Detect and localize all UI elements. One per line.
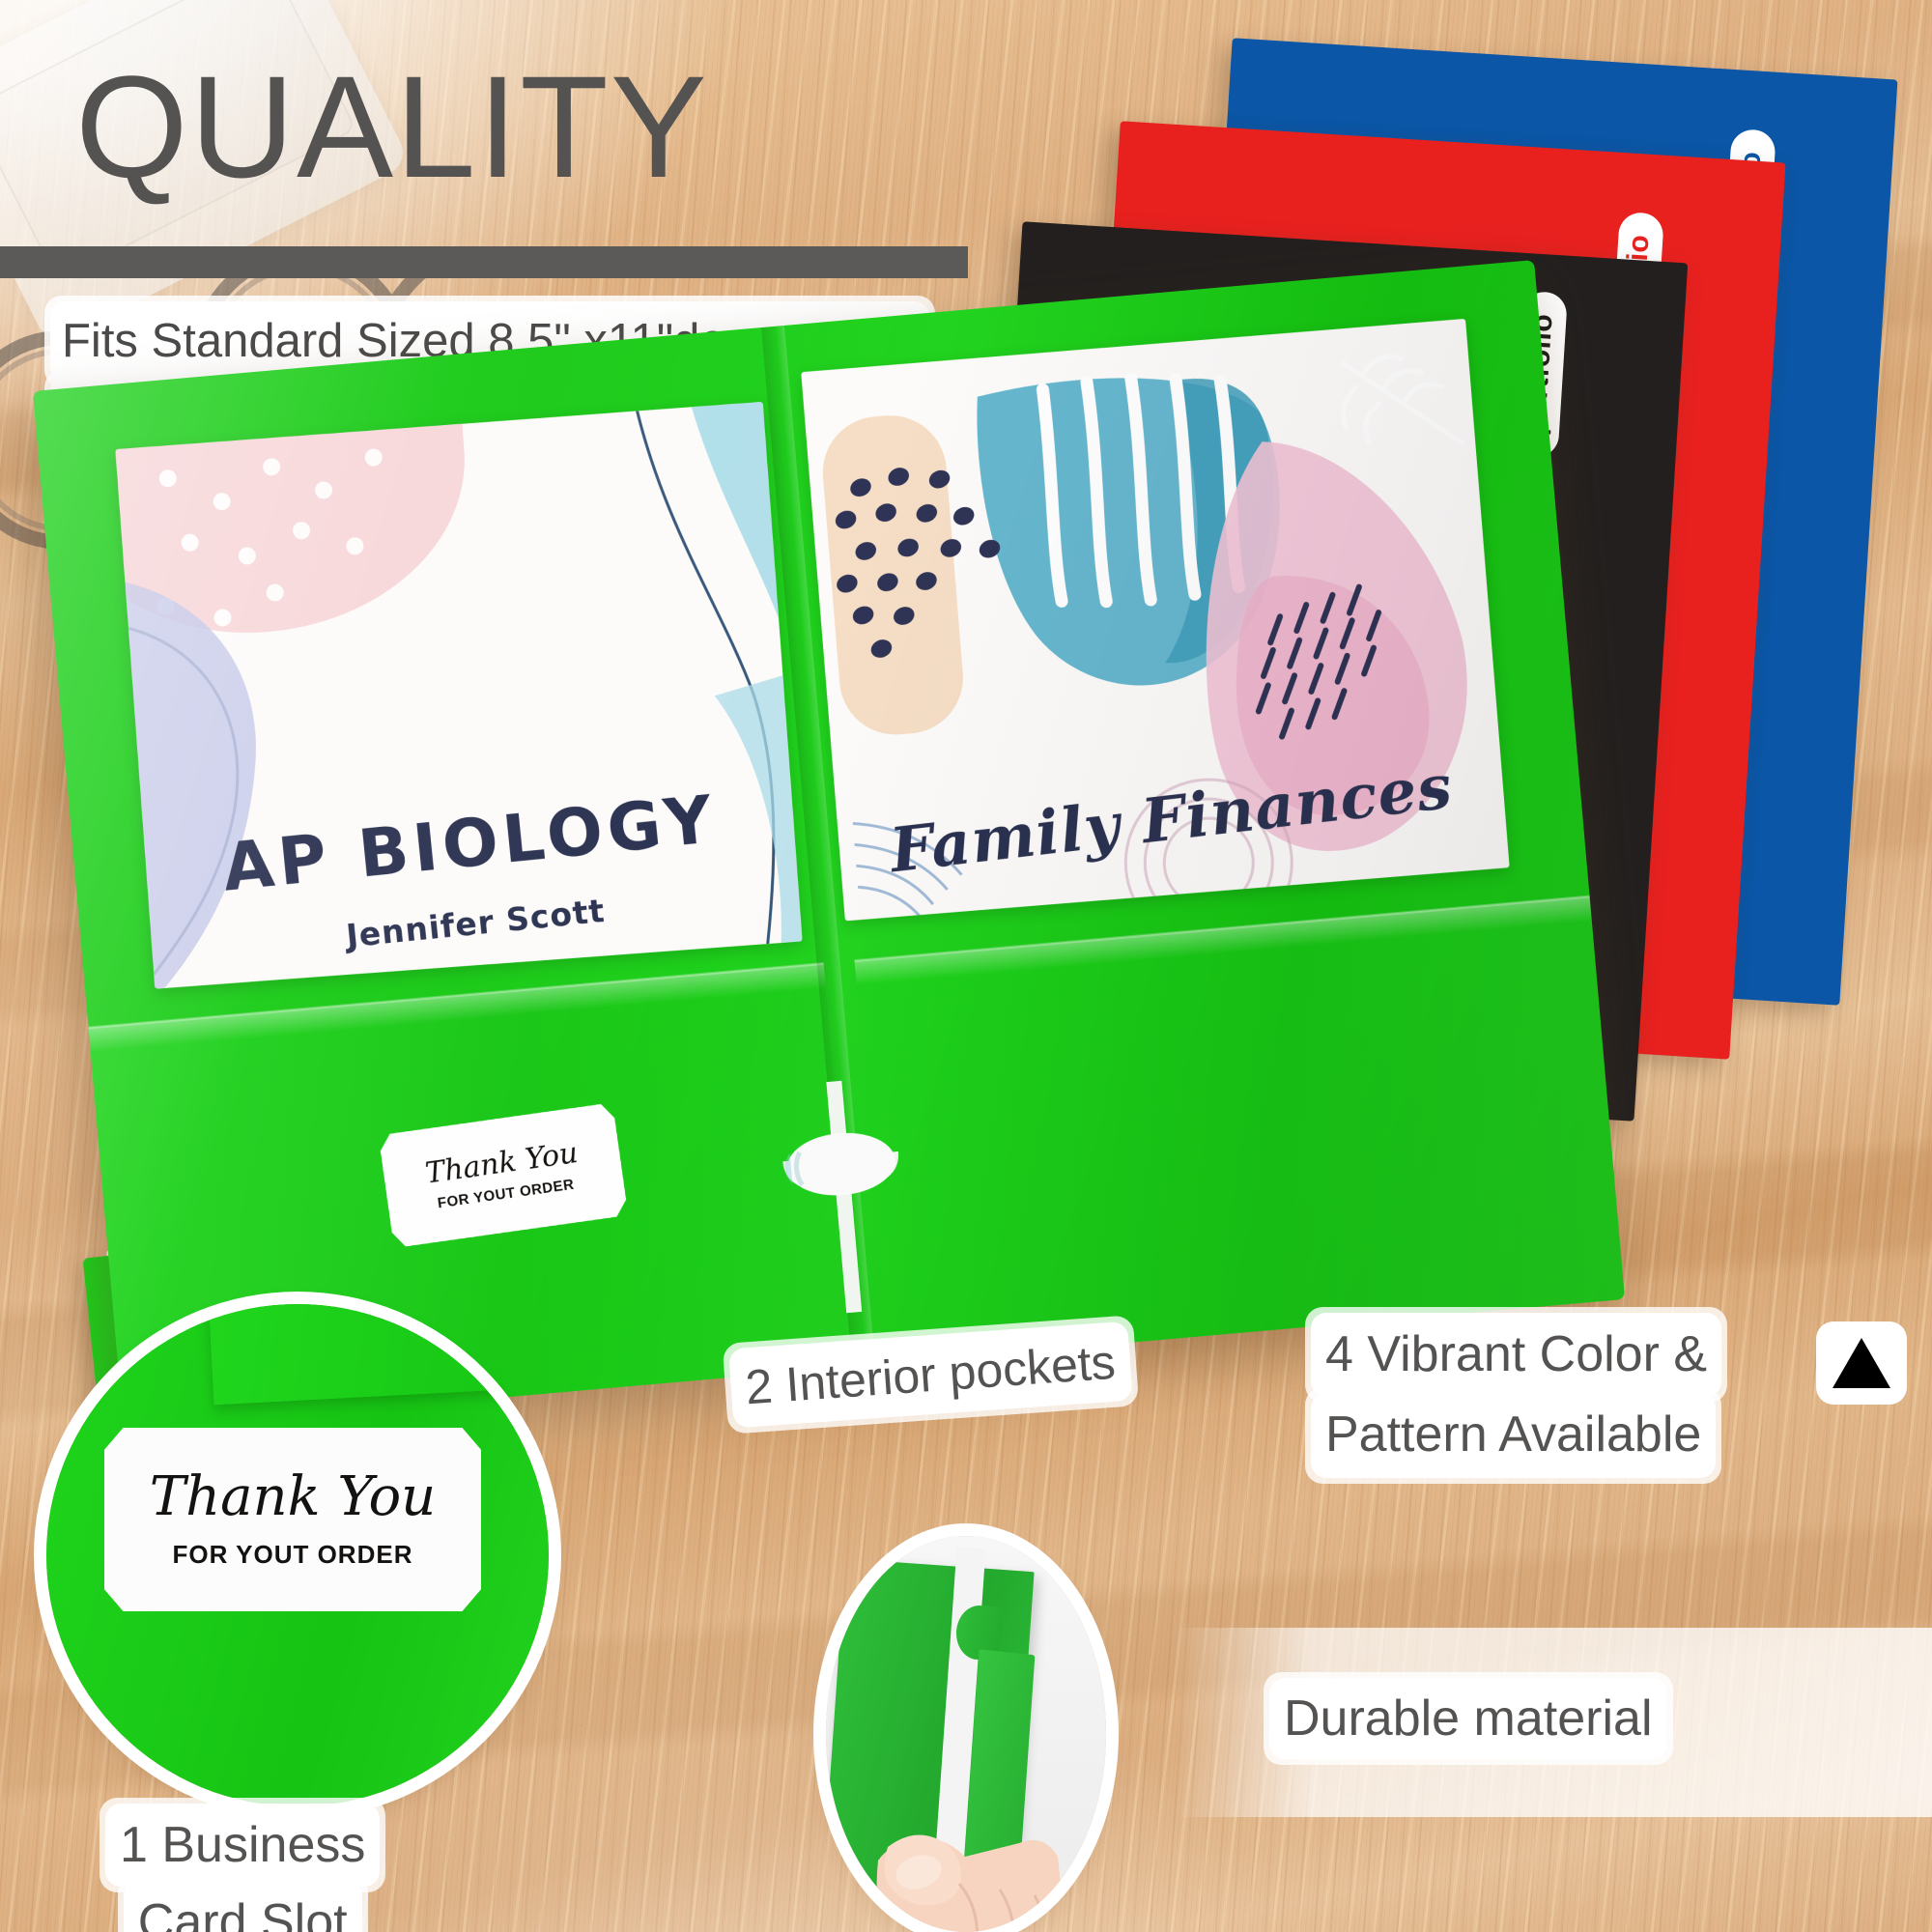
infographic-canvas: QUALITY Fits Standard Sized 8.5" x11"doc… xyxy=(0,0,1932,1932)
feature-colors-line-1: 4 Vibrant Color & xyxy=(1321,1323,1711,1386)
clasp-icon xyxy=(777,1076,912,1318)
hand-icon xyxy=(836,1768,1096,1932)
feature-label-durable: Durable material xyxy=(1280,1689,1657,1766)
callout-business-card-slot: Thank You FOR YOUT ORDER xyxy=(46,1304,549,1806)
callout-card-subtext: FOR YOUT ORDER xyxy=(173,1540,413,1570)
callout-folder-flap xyxy=(208,1304,523,1405)
feature-card-slot-line-2: Card Slot xyxy=(134,1891,352,1932)
feature-durable-text: Durable material xyxy=(1280,1689,1657,1748)
title-underline-bar xyxy=(0,246,968,278)
feature-label-card-slot: 1 Business Card Slot xyxy=(116,1814,369,1932)
feature-label-colors: 4 Vibrant Color & Pattern Available xyxy=(1321,1323,1711,1485)
triangle-shape xyxy=(1833,1338,1890,1388)
feature-colors-line-2: Pattern Available xyxy=(1321,1404,1705,1466)
feature-card-slot-line-1: 1 Business xyxy=(116,1814,369,1876)
callout-durable-material xyxy=(826,1536,1106,1932)
triangle-icon xyxy=(1816,1321,1907,1405)
callout-card-thanks-text: Thank You xyxy=(150,1470,437,1524)
page-title: QUALITY xyxy=(75,54,709,199)
callout-business-card: Thank You FOR YOUT ORDER xyxy=(104,1428,481,1611)
folder-green-open[interactable]: AP BIOLOGY Jennifer Scott xyxy=(33,260,1625,1431)
